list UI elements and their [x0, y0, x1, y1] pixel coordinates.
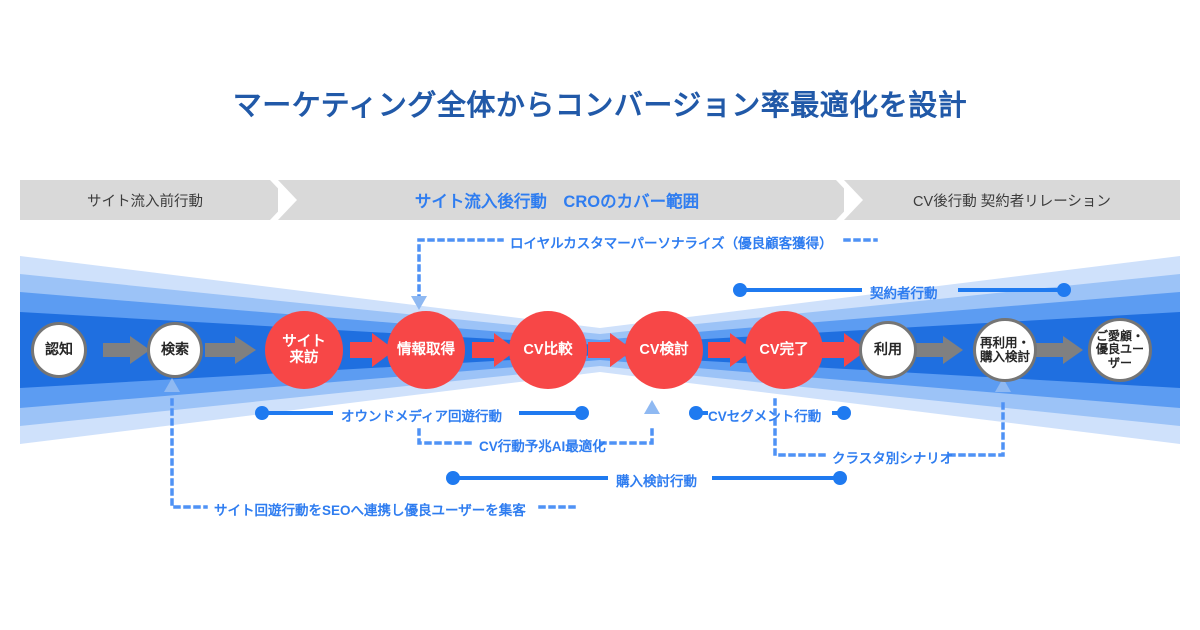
node-cv-complete-label: CV完了	[759, 342, 808, 358]
node-site-visit-label: サイト来訪	[282, 334, 326, 366]
annotation-label-cv-ai: CV行動予兆AI最適化	[479, 435, 606, 455]
node-cv-consideration: CV検討	[625, 311, 703, 389]
node-loyal-user-label: ご愛顧・優良ユーザー	[1096, 330, 1144, 370]
node-info-acquisition: 情報取得	[387, 311, 465, 389]
diagram-canvas: マーケティング全体からコンバージョン率最適化を設計 サイト流入前行動 サイト流入…	[0, 0, 1200, 630]
annotation-label-loyal-customer: ロイヤルカスタマーパーソナライズ（優良顧客獲得）	[510, 232, 833, 252]
node-usage-label: 利用	[874, 342, 902, 358]
annotation-label-owned-media: オウンドメディア回遊行動	[341, 405, 502, 425]
phase-banner-pre-visit-label: サイト流入前行動	[87, 190, 203, 211]
annotation-label-cluster-scenario: クラスタ別シナリオ	[832, 447, 953, 467]
node-loyal-user: ご愛顧・優良ユーザー	[1088, 318, 1152, 382]
node-cv-comparison: CV比較	[509, 311, 587, 389]
annotation-label-contract-action: 契約者行動	[870, 282, 938, 302]
node-usage: 利用	[859, 321, 917, 379]
node-site-visit: サイト来訪	[265, 311, 343, 389]
node-cv-comparison-label: CV比較	[523, 342, 572, 358]
node-info-acquisition-label: 情報取得	[397, 342, 455, 358]
annotation-label-seo-attract: サイト回遊行動をSEOへ連携し優良ユーザーを集客	[214, 499, 526, 519]
node-cv-complete: CV完了	[745, 311, 823, 389]
annotation-label-cv-segment: CVセグメント行動	[708, 405, 821, 425]
phase-banner-post-cv-label: CV後行動 契約者リレーション	[913, 190, 1111, 211]
chevron-notch-icon	[844, 180, 863, 220]
flow-connectors	[0, 0, 1200, 630]
node-search-label: 検索	[161, 342, 189, 358]
node-awareness: 認知	[31, 322, 87, 378]
annotation-label-purchase-consider: 購入検討行動	[616, 470, 697, 490]
node-cv-consideration-label: CV検討	[639, 342, 688, 358]
phase-banner-post-visit-label: サイト流入後行動 CROのカバー範囲	[415, 188, 699, 212]
node-search: 検索	[147, 322, 203, 378]
node-awareness-label: 認知	[45, 342, 73, 358]
chevron-notch-icon	[278, 180, 297, 220]
node-reuse-consideration-label: 再利用・購入検討	[980, 336, 1030, 364]
node-reuse-consideration: 再利用・購入検討	[973, 318, 1037, 382]
